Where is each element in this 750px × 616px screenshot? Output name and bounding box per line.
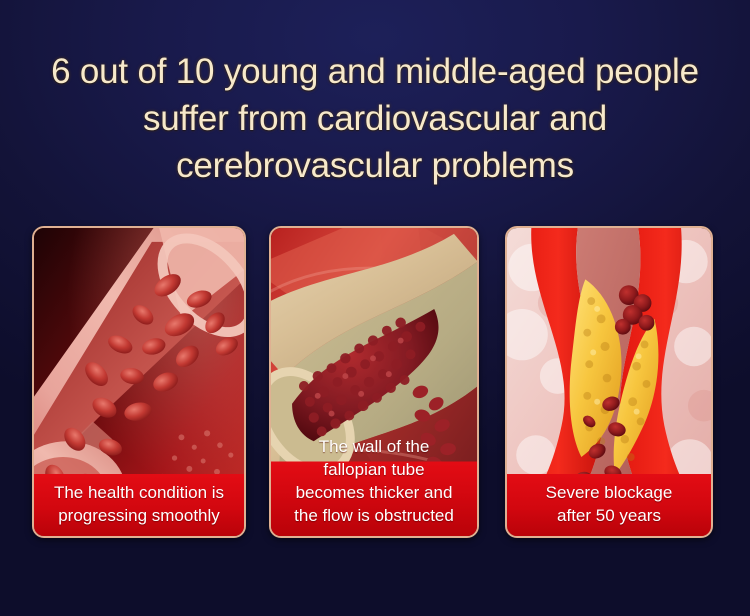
panel-caption: The health condition is progressing smoo… bbox=[34, 474, 244, 536]
panel-severe-blockage[interactable]: Severe blockage after 50 years bbox=[505, 226, 713, 538]
panel-caption: The wall of the fallopian tube becomes t… bbox=[271, 435, 477, 536]
panel-caption: Severe blockage after 50 years bbox=[507, 474, 711, 536]
infographic-canvas: 6 out of 10 young and middle-aged people… bbox=[0, 0, 750, 616]
panel-healthy-vessel[interactable]: The health condition is progressing smoo… bbox=[32, 226, 246, 538]
page-title: 6 out of 10 young and middle-aged people… bbox=[0, 48, 750, 189]
panel-thickened-wall[interactable]: The wall of the fallopian tube becomes t… bbox=[269, 226, 479, 538]
